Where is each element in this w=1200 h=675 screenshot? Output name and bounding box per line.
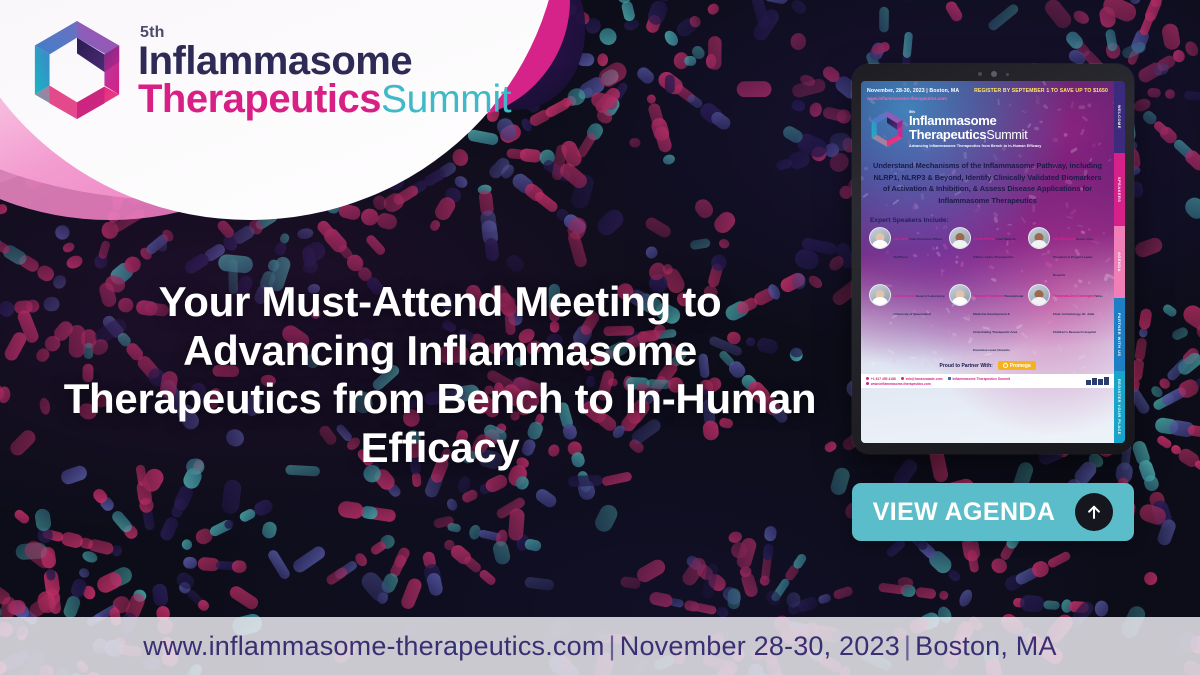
linkedin-icon	[948, 377, 951, 380]
speaker-info: Thirumala-Devi KannegantiVice-Chair, Imm…	[1053, 284, 1106, 338]
brochure-date-line: November, 28-30, 2023 | Boston, MA	[867, 88, 959, 96]
speaker-role: Vice-Chair, Immunology, St. Jude Childre…	[1053, 294, 1103, 334]
footer-website: www.inflammasome-therapeutics.com	[143, 631, 604, 661]
speaker-info: Kate SchroderHead of Laboratory, Univers…	[894, 284, 947, 320]
speaker-card: Thirumala-Devi KannegantiVice-Chair, Imm…	[1028, 284, 1106, 356]
promo-banner: 5th Inflammasome TherapeuticsSummit Your…	[0, 0, 1200, 675]
speaker-avatar	[949, 284, 971, 306]
camera-dot-icon	[991, 71, 997, 77]
globe-icon	[866, 382, 869, 385]
brochure-tab-agenda[interactable]: AGENDA	[1114, 226, 1125, 298]
brochure-header: November, 28-30, 2023 | Boston, MA www.i…	[867, 88, 1108, 101]
brochure-url: www.inflammasome-therapeutics.com	[867, 96, 959, 101]
brochure-section-tabs: WELCOMESPEAKERSAGENDAPARTNER WITH USREGI…	[1114, 81, 1125, 443]
led-dot-icon	[1006, 73, 1009, 76]
logo-wordmark: 5th Inflammasome TherapeuticsSummit	[138, 21, 511, 120]
contact-text: +1 617 455 4188	[871, 377, 896, 381]
brochure-partner-label: Proud to Partner With:	[940, 363, 993, 369]
tablet-screen: November, 28-30, 2023 | Boston, MA www.i…	[861, 81, 1125, 443]
speaker-info: Devon ParmarChief Medical Officer, Zydus…	[973, 227, 1026, 263]
brochure-contacts: +1 617 455 4188info@hansonwade.comInflam…	[866, 377, 1010, 386]
brochure-event-info: November, 28-30, 2023 | Boston, MA www.i…	[867, 88, 959, 101]
flag-bar-3	[1098, 379, 1103, 385]
contact-item: +1 617 455 4188	[866, 377, 896, 381]
speaker-avatar	[869, 227, 891, 249]
brochure-line-inflammasome: Inflammasome	[909, 114, 1041, 127]
brochure-tab-welcome[interactable]: WELCOME	[1114, 81, 1125, 153]
flag-bar-2	[1092, 378, 1097, 385]
flag-bar-4	[1104, 377, 1109, 385]
brochure-tab-partner-with-us[interactable]: PARTNER WITH US	[1114, 298, 1125, 370]
brochure-wordmark: 5th Inflammasome TherapeuticsSummit Adva…	[909, 110, 1041, 149]
globe-icon	[901, 377, 904, 380]
brochure-flags-icon	[1086, 377, 1109, 385]
hexagon-logo-icon	[28, 18, 126, 122]
brochure-tab-speakers[interactable]: SPEAKERS	[1114, 153, 1125, 225]
speaker-avatar	[869, 284, 891, 306]
contact-row: www.inflammasome-therapeutics.com	[866, 382, 1010, 386]
logo-line-inflammasome: Inflammasome	[138, 42, 511, 80]
contact-item: info@hansonwade.com	[901, 377, 943, 381]
speaker-card: Marianne RowlandsTranslational Medicine …	[949, 284, 1027, 356]
logo-line-therapeutics-summit: TherapeuticsSummit	[138, 80, 511, 119]
sensor-dot-icon	[978, 72, 982, 76]
speaker-name: Devon Parmar	[973, 237, 995, 241]
speaker-name: Marianne Rowlands	[973, 294, 1004, 298]
promega-logo: Promega	[998, 361, 1036, 370]
footer-separator-2: |	[900, 631, 915, 661]
footer-separator-1: |	[605, 631, 620, 661]
speaker-role: Translational Medicine Development & Und…	[973, 294, 1023, 352]
phone-icon	[866, 377, 869, 380]
speaker-info: Marianne RowlandsTranslational Medicine …	[973, 284, 1026, 356]
brochure-therapeutics: Therapeutics	[909, 127, 986, 142]
arrow-up-icon	[1075, 493, 1113, 531]
footer-bar: www.inflammasome-therapeutics.com|Novemb…	[0, 617, 1200, 675]
speaker-info: Lion WolfChief Executive Officer, NodThe…	[894, 227, 947, 263]
brochure-summit: Summit	[986, 128, 1027, 142]
tablet-camera-dots	[852, 71, 1134, 77]
speaker-card: Eric HinsworthSenior Vice-President & Pr…	[1028, 227, 1106, 281]
contact-text: www.inflammasome-therapeutics.com	[871, 382, 931, 386]
footer-location: Boston, MA	[915, 631, 1057, 661]
contact-text: Inflammasome Therapeutics Summit	[952, 377, 1010, 381]
brochure-register-offer: REGISTER BY SEPTEMBER 1 TO SAVE UP TO $1…	[974, 88, 1108, 95]
brochure-speakers-grid: Lion WolfChief Executive Officer, NodThe…	[867, 227, 1108, 356]
speaker-avatar	[1028, 227, 1050, 249]
brochure-logo: 5th Inflammasome TherapeuticsSummit Adva…	[867, 110, 1108, 149]
speaker-name: Lion Wolf	[894, 237, 909, 241]
brochure-hexagon-logo-icon	[869, 110, 905, 148]
speaker-avatar	[1028, 284, 1050, 306]
contact-row: +1 617 455 4188info@hansonwade.comInflam…	[866, 377, 1010, 381]
speaker-name: Kate Schroder	[894, 294, 917, 298]
logo-therapeutics: Therapeutics	[138, 77, 381, 121]
view-agenda-button[interactable]: VIEW AGENDA	[852, 483, 1134, 541]
brochure-footer: +1 617 455 4188info@hansonwade.comInflam…	[861, 374, 1114, 388]
brochure-tab-register-your-place[interactable]: REGISTER YOUR PLACE	[1114, 371, 1125, 443]
contact-item: www.inflammasome-therapeutics.com	[866, 382, 931, 386]
contact-item: Inflammasome Therapeutics Summit	[948, 377, 1010, 381]
speaker-name: Thirumala-Devi Kanneganti	[1053, 294, 1096, 298]
brochure-tagline: Advancing Inflammasome Therapeutics from…	[909, 145, 1041, 149]
brochure-partner-row: Proud to Partner With: Promega	[867, 361, 1108, 370]
flag-bar-1	[1086, 380, 1091, 385]
summit-logo: 5th Inflammasome TherapeuticsSummit	[28, 18, 511, 122]
speaker-card: Kate SchroderHead of Laboratory, Univers…	[869, 284, 947, 356]
tablet-mockup: November, 28-30, 2023 | Boston, MA www.i…	[852, 64, 1134, 454]
footer-text: www.inflammasome-therapeutics.com|Novemb…	[143, 631, 1056, 662]
view-agenda-label: VIEW AGENDA	[873, 498, 1056, 527]
contact-text: info@hansonwade.com	[906, 377, 943, 381]
brochure-headline: Understand Mechanisms of the Inflammasom…	[867, 160, 1108, 206]
footer-dates: November 28-30, 2023	[620, 631, 900, 661]
speaker-role: Senior Vice-President & Project Leader, …	[1053, 237, 1094, 277]
speaker-card: Devon ParmarChief Medical Officer, Zydus…	[949, 227, 1027, 281]
speaker-name: Eric Hinsworth	[1053, 237, 1076, 241]
brochure-speakers-title: Expert Speakers Include:	[867, 217, 1108, 224]
page-title: Your Must-Attend Meeting to Advancing In…	[60, 278, 820, 473]
brochure-page: November, 28-30, 2023 | Boston, MA www.i…	[861, 81, 1114, 443]
speaker-info: Eric HinsworthSenior Vice-President & Pr…	[1053, 227, 1106, 281]
promega-mark-icon	[1003, 363, 1008, 368]
brochure-line-therapeutics-summit: TherapeuticsSummit	[909, 127, 1041, 143]
speaker-avatar	[949, 227, 971, 249]
logo-summit: Summit	[381, 78, 511, 121]
promega-name: Promega	[1010, 363, 1031, 369]
speaker-card: Lion WolfChief Executive Officer, NodThe…	[869, 227, 947, 281]
